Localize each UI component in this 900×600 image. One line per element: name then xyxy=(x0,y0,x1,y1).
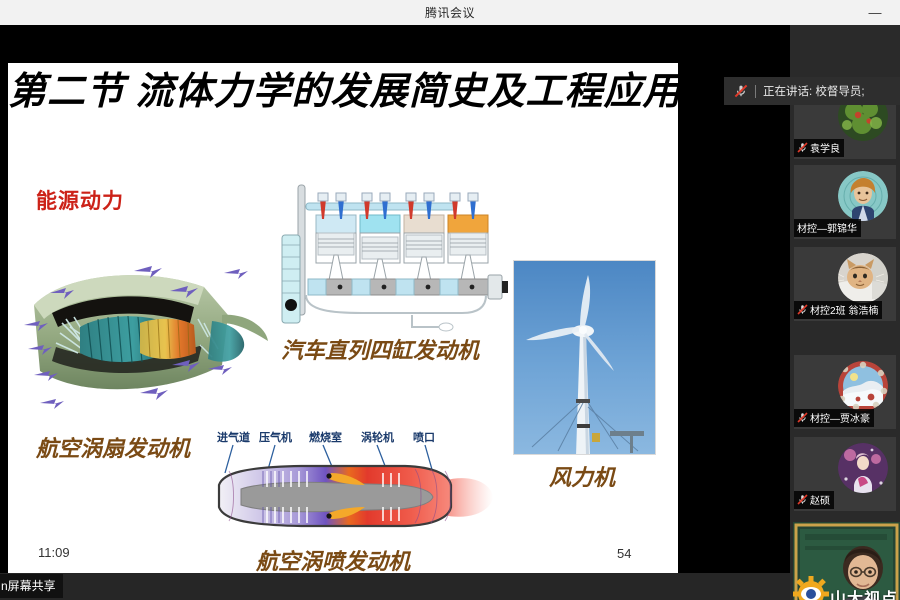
participant-name-4: 赵硕 xyxy=(810,492,830,507)
avatar xyxy=(838,361,888,411)
turbofan-engine-illustration xyxy=(22,253,277,425)
car-engine-caption: 汽车直列四缸发动机 xyxy=(281,333,479,365)
participant-tile-3[interactable]: 材控—贾冰豪 xyxy=(794,355,896,429)
screen-share-status[interactable]: n屏幕共享 xyxy=(0,574,63,598)
part-label-1: 压气机 xyxy=(259,430,292,444)
participant-nameplate-3: 材控—贾冰豪 xyxy=(794,409,874,427)
participant-nameplate-0: 袁学良 xyxy=(794,139,844,157)
wind-turbine-caption: 风力机 xyxy=(549,460,615,492)
slide-title: 第二节 流体力学的发展简史及工程应用 xyxy=(8,63,662,121)
participant-tile-2[interactable]: 材控2班 翁浩楠 xyxy=(794,247,896,321)
slide-timestamp: 11:09 xyxy=(38,545,70,560)
avatar xyxy=(838,443,888,493)
slide-page-number: 54 xyxy=(617,546,631,561)
mic-muted-icon xyxy=(797,412,808,423)
avatar xyxy=(838,171,888,221)
mic-muted-icon xyxy=(734,84,748,98)
active-speaker-banner: 正在讲话: 校督导员; xyxy=(724,77,900,105)
window-titlebar: 腾讯会议 — xyxy=(0,0,900,25)
slide-section-label: 能源动力 xyxy=(36,185,124,215)
mic-muted-icon xyxy=(797,304,808,315)
turbojet-caption: 航空涡喷发动机 xyxy=(256,544,410,576)
participant-name-0: 袁学良 xyxy=(810,140,840,155)
participant-nameplate-2: 材控2班 翁浩楠 xyxy=(794,301,882,319)
participant-name-2: 材控2班 翁浩楠 xyxy=(810,302,878,317)
active-speaker-text: 正在讲话: 校督导员; xyxy=(763,83,865,99)
participant-nameplate-1: 材控—郭锦华 xyxy=(794,219,861,237)
participant-nameplate-4: 赵硕 xyxy=(794,491,834,509)
turbofan-caption: 航空涡扇发动机 xyxy=(36,431,190,463)
watermark-video-tile[interactable]: 山大视点 view.sdu.edu.cn xyxy=(793,522,900,600)
app-body: 第二节 流体力学的发展简史及工程应用 能源动力 xyxy=(0,25,900,600)
minimize-button[interactable]: — xyxy=(860,0,890,25)
mic-muted-icon xyxy=(797,142,808,153)
part-label-2: 燃烧室 xyxy=(308,430,342,444)
shared-screen-stage[interactable]: 第二节 流体力学的发展简史及工程应用 能源动力 xyxy=(0,25,790,573)
gear-eye-logo xyxy=(793,576,829,600)
part-label-0: 进气道 xyxy=(217,430,250,444)
participant-name-3: 材控—贾冰豪 xyxy=(810,410,870,425)
meeting-bottom-strip xyxy=(0,573,790,600)
participant-name-1: 材控—郭锦华 xyxy=(797,220,857,235)
participant-tile-4[interactable]: 赵硕 xyxy=(794,437,896,511)
window-title: 腾讯会议 xyxy=(425,4,475,21)
wind-turbine-photo xyxy=(513,260,656,455)
car-engine-illustration xyxy=(262,175,517,335)
avatar xyxy=(838,253,888,303)
part-label-4: 喷口 xyxy=(413,430,435,444)
divider xyxy=(755,85,756,98)
mic-muted-icon xyxy=(797,494,808,505)
participant-rail[interactable]: 袁学良 材控— xyxy=(790,25,900,600)
part-label-3: 涡轮机 xyxy=(361,430,394,444)
participant-tile-1[interactable]: 材控—郭锦华 xyxy=(794,165,896,239)
turbojet-engine-illustration: 进气道 压气机 燃烧室 涡轮机 喷口 xyxy=(205,429,495,541)
